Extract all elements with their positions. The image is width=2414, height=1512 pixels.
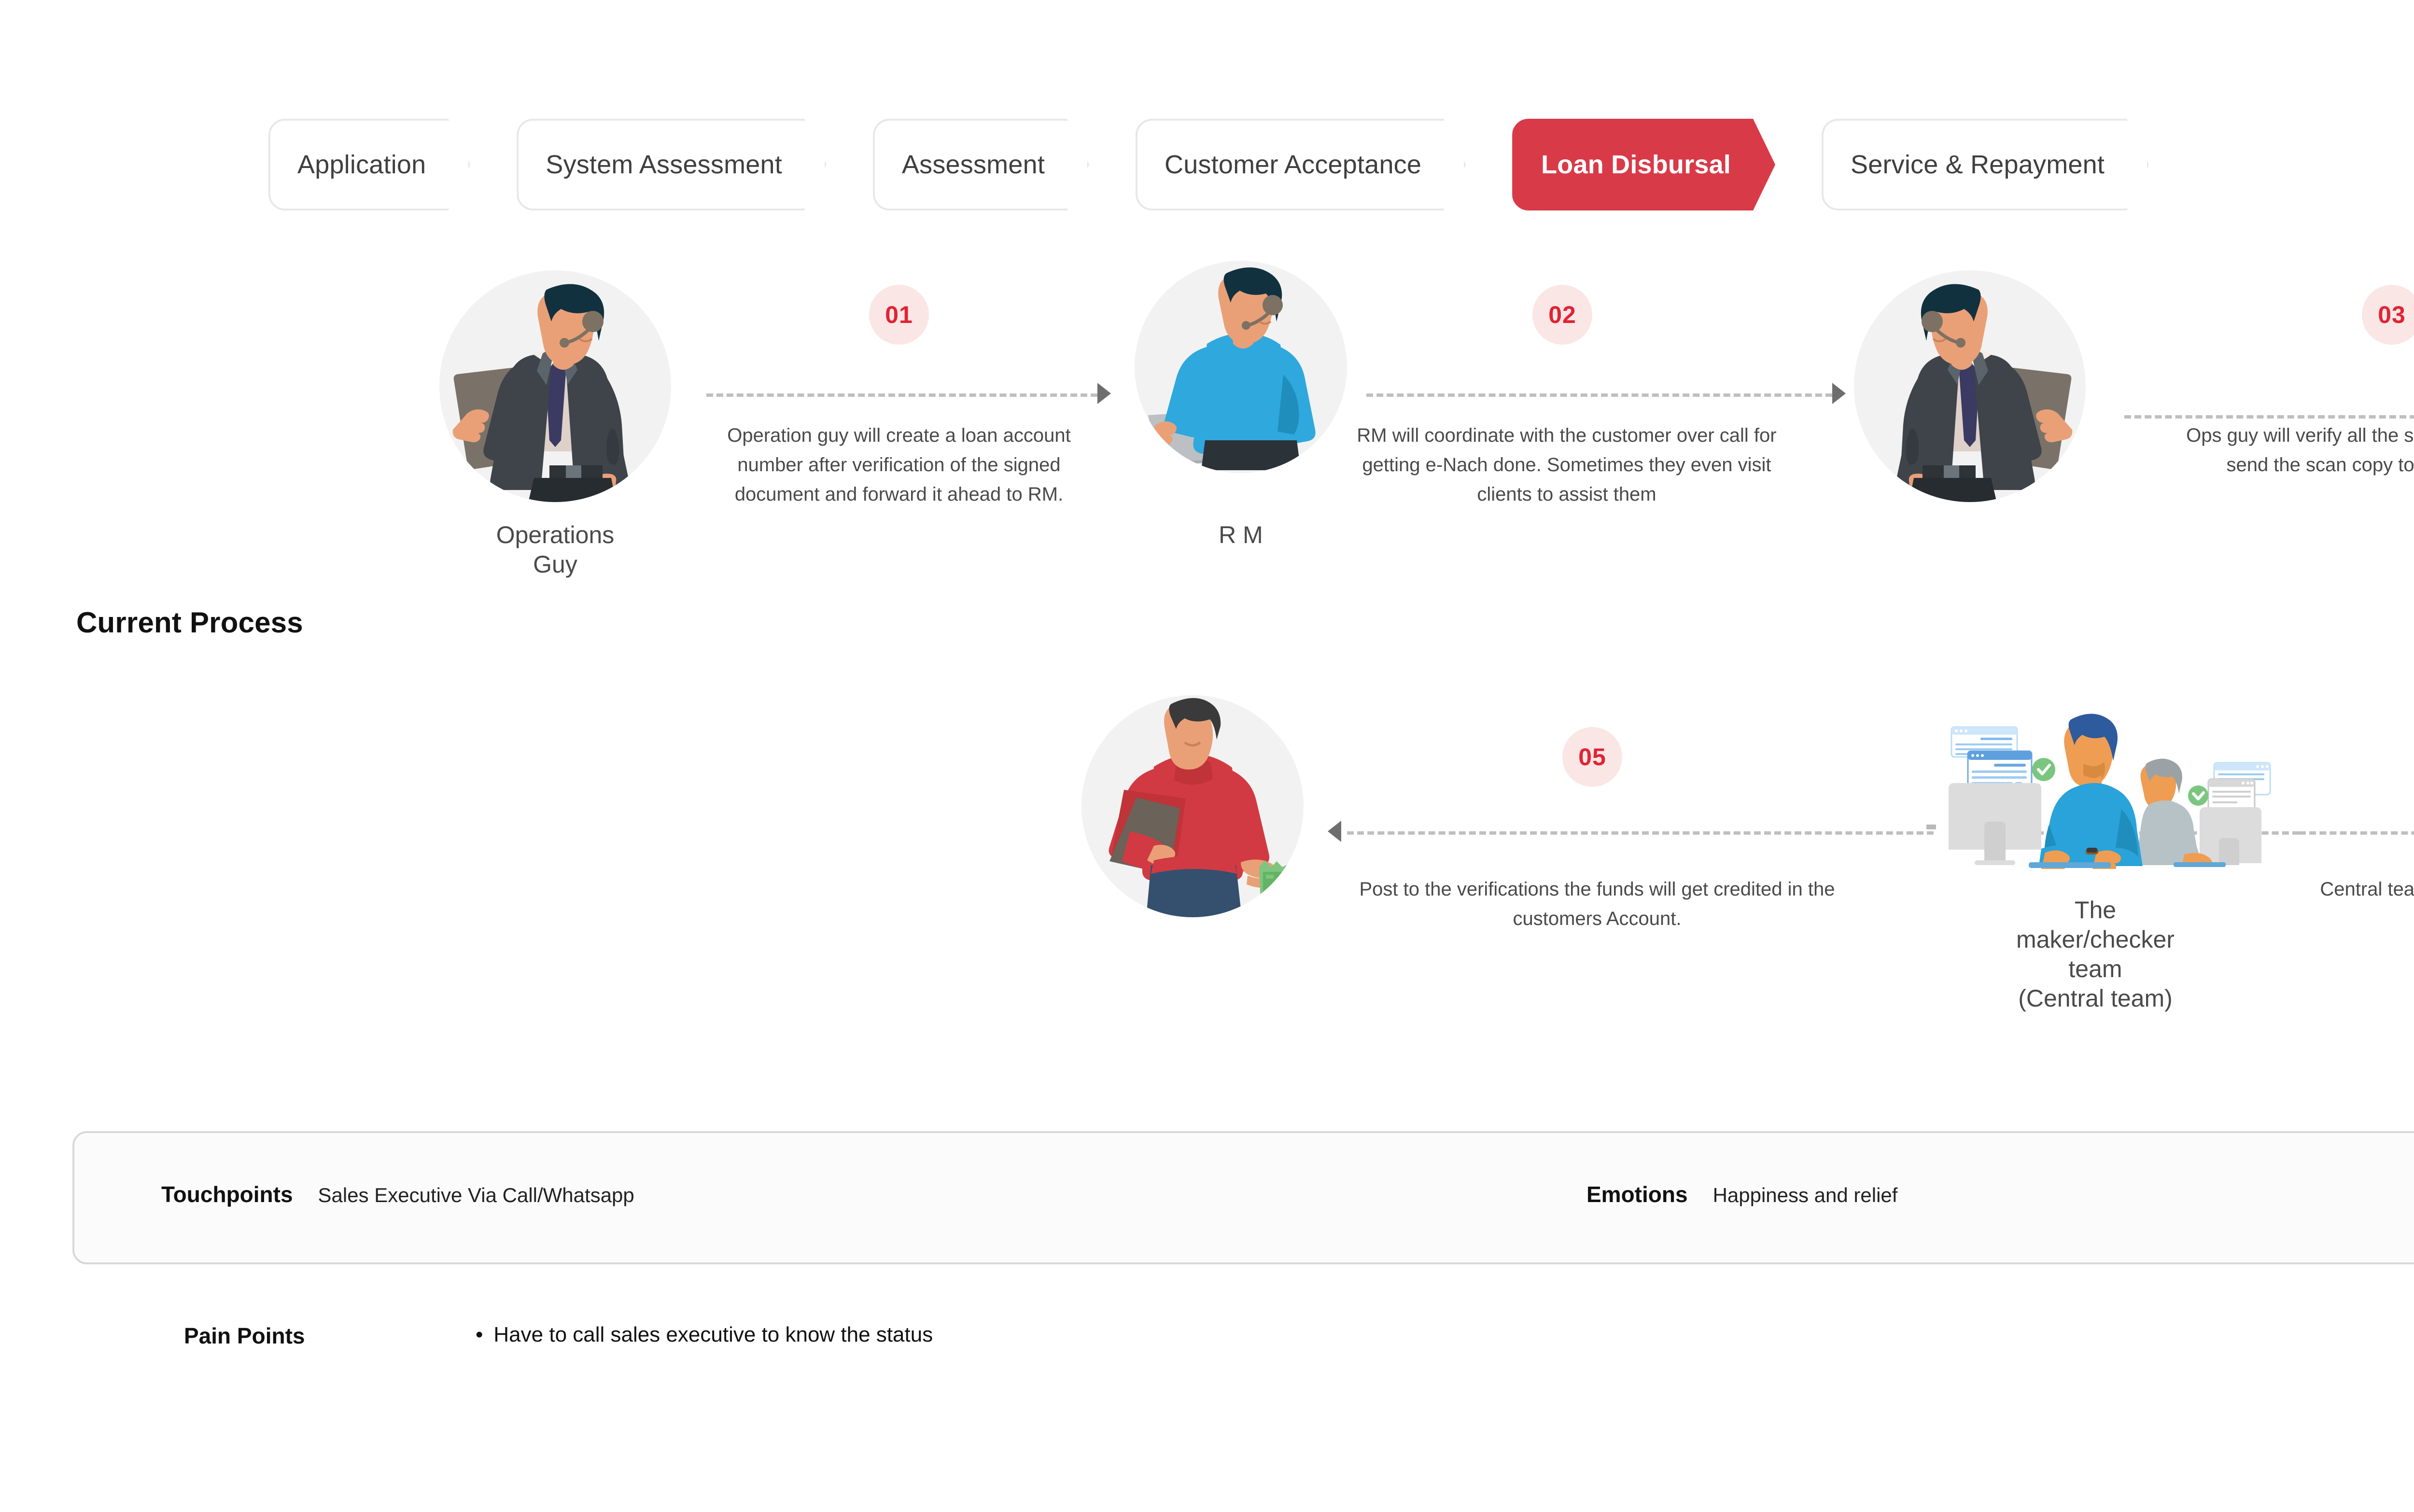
money-icon (1259, 860, 1305, 915)
step-description-05: Post to the verifications the funds will… (1356, 875, 1839, 934)
stage-chip-label: Application (268, 150, 470, 180)
person-front (2029, 714, 2143, 869)
arrow-right-icon (1832, 383, 1846, 404)
step-badge-01: 01 (869, 285, 929, 345)
stage-chip-label: Assessment (873, 150, 1089, 180)
section-title: Current Process (76, 606, 303, 639)
pain-points-label: Pain Points (184, 1323, 305, 1349)
step-number: 03 (2378, 301, 2406, 329)
customer-receiving-money-illustration (1081, 695, 1304, 917)
pain-points-item: •Have to call sales executive to know th… (476, 1323, 933, 1347)
stage-chip-assessment[interactable]: Assessment (873, 119, 1089, 210)
check-circle-icon (2188, 785, 2208, 806)
persona-label-line: maker/checker (1897, 925, 2293, 954)
touchpoints-group: Touchpoints Sales Executive Via Call/Wha… (161, 1181, 634, 1207)
step-number: 02 (1548, 301, 1576, 329)
persona-label-maker-checker-team: The maker/checker team (Central team) (1897, 896, 2293, 1013)
journey-map-canvas: Application System Assessment Assessment… (0, 0, 2414, 1512)
team-at-computers-illustration (1926, 710, 2264, 869)
arrow-right-icon (1097, 383, 1111, 404)
stage-chip-label: System Assessment (517, 150, 827, 180)
persona-label-rm: R M (1125, 520, 1357, 550)
persona-label-line: team (1897, 954, 2293, 984)
summary-card: Touchpoints Sales Executive Via Call/Wha… (72, 1131, 2414, 1264)
persona-label-line: R M (1125, 520, 1357, 550)
stage-chip-label: Customer Acceptance (1136, 150, 1466, 180)
businessman-headset-illustration (1854, 270, 2086, 502)
persona-label-line: (Central team) (1897, 984, 2293, 1013)
persona-label-line: The (1897, 896, 2293, 925)
step-number: 01 (885, 301, 913, 329)
persona-label-line: Operations (391, 520, 719, 550)
avatar-operations-guy (439, 270, 671, 502)
step-badge-05: 05 (1562, 727, 1622, 787)
avatar-rm (1135, 261, 1347, 473)
dashed-line (1347, 831, 1934, 835)
emotions-group: Emotions Happiness and relief (1586, 1181, 1897, 1207)
step-badge-02: 02 (1532, 285, 1592, 345)
emotions-label: Emotions (1586, 1181, 1688, 1207)
stage-chip-label: Service & Repayment (1822, 150, 2149, 180)
avatar-operations-guy-2 (1854, 270, 2086, 502)
step-description-04: Central team will verify and disburse th… (2298, 875, 2414, 934)
dashed-line (706, 393, 1097, 397)
step-badge-03: 03 (2362, 285, 2414, 345)
relationship-manager-illustration (1135, 261, 1347, 473)
stage-chip-label: Loan Disbursal (1512, 150, 1775, 180)
stage-chip-loan-disbursal[interactable]: Loan Disbursal (1512, 119, 1775, 210)
touchpoints-value: Sales Executive Via Call/Whatsapp (318, 1184, 634, 1207)
step-number: 05 (1578, 743, 1606, 771)
check-circle-icon (2032, 758, 2055, 781)
step-description-01: Operation guy will create a loan account… (699, 421, 1099, 509)
step-description-02: RM will coordinate with the customer ove… (1357, 421, 1777, 509)
persona-label-line: Guy (391, 550, 719, 579)
stage-chip-system-assessment[interactable]: System Assessment (517, 119, 827, 210)
stage-chip-service-repayment[interactable]: Service & Repayment (1822, 119, 2149, 210)
pain-points-item-text: Have to call sales executive to know the… (493, 1323, 933, 1346)
arrow-left-icon (1328, 821, 1341, 842)
avatar-customer (1081, 695, 1304, 917)
bullet-dot-icon: • (476, 1323, 483, 1346)
avatar-maker-checker-team (1926, 710, 2264, 869)
dashed-line (2299, 831, 2414, 835)
businessman-headset-illustration (439, 270, 671, 502)
stage-chip-application[interactable]: Application (268, 119, 470, 210)
stage-chip-customer-acceptance[interactable]: Customer Acceptance (1136, 119, 1466, 210)
persona-label-operations-guy: Operations Guy (391, 520, 719, 579)
dashed-line (2124, 415, 2414, 419)
touchpoints-label: Touchpoints (161, 1181, 293, 1207)
stage-breadcrumb: Application System Assessment Assessment… (268, 119, 2195, 210)
dashed-line (1366, 393, 1832, 397)
emotions-value: Happiness and relief (1713, 1184, 1898, 1207)
step-description-03: Ops guy will verify all the signed dcoum… (2163, 421, 2414, 480)
